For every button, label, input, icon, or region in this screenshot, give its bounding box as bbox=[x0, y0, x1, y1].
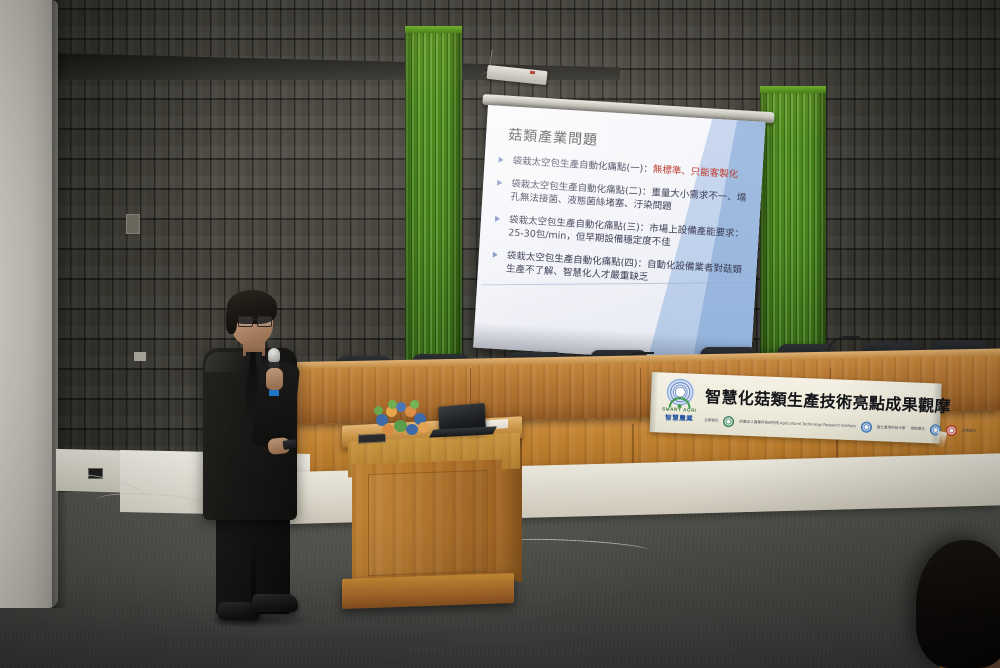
slide-bullet-2-text: 袋栽太空包生產自動化痛點(二)：重量大小需求不一、塌孔無法接菌、液態菌絲堵塞、汙… bbox=[510, 178, 746, 212]
bullet-triangle-icon bbox=[493, 251, 498, 257]
speaker-shoe-right bbox=[252, 594, 298, 612]
indicator-light bbox=[530, 71, 535, 75]
sponsor-name-1: 財團法人農業科技研究院 Agricultural Technology Rese… bbox=[739, 420, 856, 429]
flower-petal bbox=[374, 406, 383, 415]
logo-chinese-text: 智慧農業 bbox=[658, 411, 700, 423]
slide-bullet-list: 袋栽太空包生產自動化痛點(一)：無標準、只能客製化 袋栽太空包生產自動化痛點(二… bbox=[491, 154, 756, 300]
sponsor-logo-mark-2 bbox=[861, 421, 872, 432]
speaker-hand-holding-microphone bbox=[266, 368, 283, 390]
table-seam-2 bbox=[640, 368, 641, 422]
sunburst-icon bbox=[666, 378, 695, 407]
glasses-lens-left bbox=[238, 316, 253, 327]
smart-agri-logo: SMART AGRI 智慧農業 bbox=[658, 377, 702, 427]
foreground-audience-head bbox=[916, 540, 1000, 668]
bullet-triangle-icon bbox=[497, 179, 502, 185]
microphone-blue-band bbox=[269, 390, 279, 396]
wifi-icon bbox=[669, 397, 691, 409]
podium-base bbox=[342, 573, 514, 609]
flower-petal bbox=[410, 400, 419, 409]
wall-fixture-plate bbox=[126, 214, 140, 234]
slide-bullet-4-text: 袋栽太空包生產自動化痛點(四)：自動化設備業者對菇類生產不了解、智慧化人才嚴重缺… bbox=[506, 250, 742, 283]
slide-bullet-2: 袋栽太空包生產自動化痛點(二)：重量大小需求不一、塌孔無法接菌、液態菌絲堵塞、汙… bbox=[496, 176, 755, 219]
slide-surface: 菇類產業問題 袋栽太空包生產自動化痛點(一)：無標準、只能客製化 袋栽太空包生產… bbox=[473, 105, 765, 365]
curtain-rail-left bbox=[405, 26, 462, 33]
flower-petal bbox=[418, 422, 429, 433]
glasses-lens-right bbox=[257, 316, 272, 327]
flower-petal bbox=[406, 424, 418, 435]
presentation-clicker bbox=[282, 439, 296, 450]
sponsor-role-1: 主辦單位 bbox=[704, 418, 719, 423]
speaker-glasses bbox=[238, 316, 272, 325]
event-banner: SMART AGRI 智慧農業 智慧化菇類生產技術亮點成果觀摩 主辦單位 財團法… bbox=[650, 372, 942, 444]
banner-sponsor-row: 主辦單位 財團法人農業科技研究院 Agricultural Technology… bbox=[704, 412, 938, 438]
banner-title-text: 智慧化菇類生產技術亮點成果觀摩 bbox=[705, 383, 938, 416]
flower-petal bbox=[394, 420, 407, 432]
slide-bullet-4: 袋栽太空包生產自動化痛點(四)：自動化設備業者對菇類生產不了解、智慧化人才嚴重缺… bbox=[492, 248, 751, 291]
flower-petal bbox=[382, 424, 394, 435]
podium-front-panel bbox=[368, 470, 488, 576]
bullet-triangle-icon bbox=[498, 157, 503, 163]
sponsor-name-4: 技術單位 bbox=[962, 429, 977, 434]
speaker-shoulder-highlight bbox=[205, 352, 245, 372]
handheld-microphone-head bbox=[268, 348, 280, 362]
slide-title: 菇類產業問題 bbox=[508, 124, 599, 149]
slide-bullet-3: 袋栽太空包生產自動化痛點(三)：市場上設備產能要求：25-30包/min，但早期… bbox=[494, 212, 753, 255]
sponsor-logo-mark-1 bbox=[723, 416, 734, 427]
flower-petal bbox=[388, 400, 397, 409]
flower-arrangement bbox=[374, 400, 432, 438]
wall-fixture-plate-2 bbox=[134, 352, 146, 361]
projection-screen: 菇類產業問題 袋栽太空包生產自動化痛點(一)：無標準、只能客製化 袋栽太空包生產… bbox=[473, 105, 765, 365]
bullet-triangle-icon bbox=[495, 215, 500, 221]
sponsor-role-3: 協辦單位 bbox=[910, 427, 925, 432]
conference-photo-scene: 菇類產業問題 袋栽太空包生產自動化痛點(一)：無標準、只能客製化 袋栽太空包生產… bbox=[0, 0, 1000, 668]
green-curtain-right bbox=[760, 86, 826, 354]
pillar-shadow bbox=[52, 0, 68, 608]
slide-bullet-3-text: 袋栽太空包生產自動化痛點(三)：市場上設備產能要求：25-30包/min，但早期… bbox=[508, 214, 744, 248]
left-wall-pillar bbox=[0, 0, 58, 608]
green-curtain-left bbox=[405, 26, 462, 370]
sponsor-name-2: 國立臺灣科技大學 bbox=[877, 425, 906, 431]
speaker-hair-side bbox=[226, 306, 237, 334]
curtain-rail-right bbox=[760, 86, 826, 93]
